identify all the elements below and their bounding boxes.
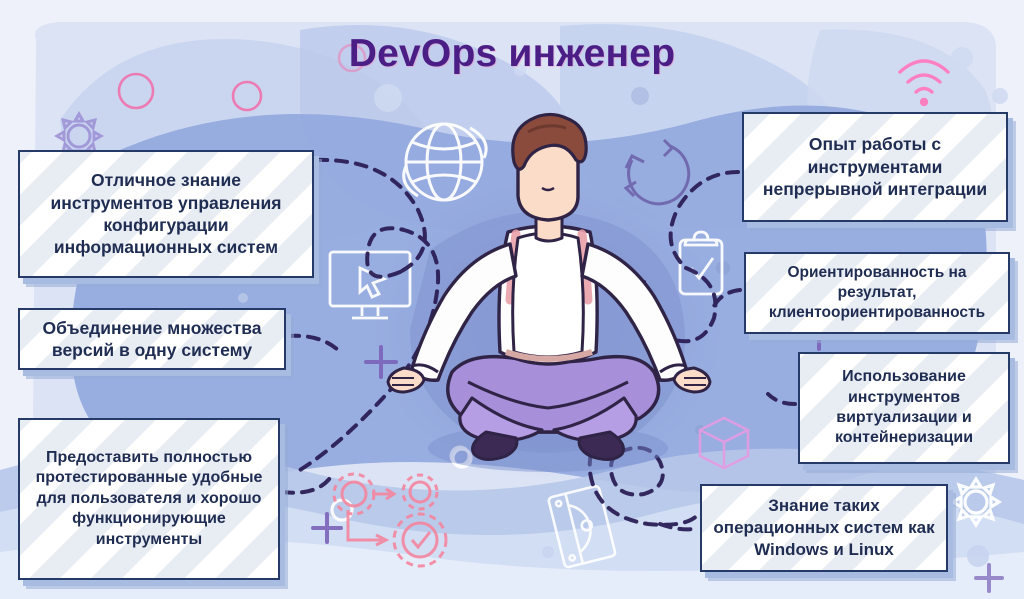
callout-operating-systems-label: Знание таких операционных систем как Win… [702, 491, 946, 564]
callout-result-orientation-label: Ориентированность на результат, клиентоо… [746, 259, 1008, 326]
callout-version-merge: Объединение множества версий в одну сист… [18, 308, 286, 370]
infographic-canvas: DevOps инженер Отличное знание инструмен… [0, 0, 1024, 599]
callout-tested-tools-label: Предоставить полностью протестированные … [20, 444, 278, 554]
callout-virtualization: Использование инструментов виртуализации… [798, 352, 1010, 464]
callout-virtualization-label: Использование инструментов виртуализации… [800, 363, 1008, 453]
callout-result-orientation: Ориентированность на результат, клиентоо… [744, 252, 1010, 334]
callout-config-management-label: Отличное знание инструментов управления … [20, 165, 312, 263]
callout-version-merge-label: Объединение множества версий в одну сист… [20, 313, 284, 366]
callout-tested-tools: Предоставить полностью протестированные … [18, 418, 280, 580]
callout-config-management: Отличное знание инструментов управления … [18, 150, 314, 278]
page-title: DevOps инженер [0, 32, 1024, 76]
callout-operating-systems: Знание таких операционных систем как Win… [700, 484, 948, 572]
callout-continuous-integration: Опыт работы с инструментами непрерывной … [742, 112, 1008, 222]
callout-continuous-integration-label: Опыт работы с инструментами непрерывной … [744, 129, 1006, 204]
